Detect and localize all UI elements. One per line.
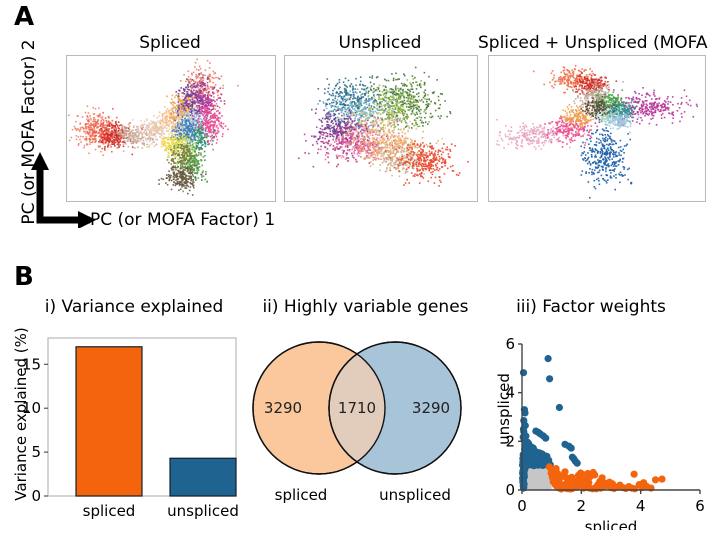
scatter-point: [556, 404, 563, 411]
scatter-point: [590, 469, 597, 476]
venn-count-unspliced-only: 3290: [412, 399, 450, 417]
mofa-embedding-title: Spliced + Unspliced (MOFA): [478, 33, 706, 53]
bar-category-label: unspliced: [167, 502, 239, 520]
y-tick-label: 6: [505, 335, 515, 353]
variance-explained-title: i) Variance explained: [18, 297, 250, 317]
scatter-point: [609, 480, 616, 487]
x-tick-label: 4: [636, 497, 646, 515]
bar-category-label: spliced: [83, 502, 136, 520]
scatter-point: [568, 445, 575, 452]
spliced-embedding-title: Spliced: [66, 33, 274, 53]
scatter-point: [549, 474, 556, 481]
x-tick-label: 0: [517, 497, 527, 515]
mofa-embedding-canvas: [489, 56, 705, 201]
venn-count-intersection: 1710: [338, 399, 376, 417]
scatter-point: [581, 480, 588, 487]
venn-canvas[interactable]: 329017103290splicedunspliced: [243, 330, 475, 530]
scatter-point: [556, 475, 563, 482]
scatter-x-axis-label: spliced: [585, 518, 638, 530]
scatter-point: [561, 468, 568, 475]
bar-spliced[interactable]: [76, 347, 142, 496]
panel-b-letter: B: [14, 264, 34, 290]
scatter-point: [568, 474, 575, 481]
scatter-point: [577, 469, 584, 476]
spliced-embedding: [66, 55, 276, 202]
scatter-point: [522, 443, 529, 450]
scatter-point: [545, 355, 552, 362]
variance-y-axis-label: Variance explained (%): [12, 324, 30, 504]
spliced-embedding-canvas: [67, 56, 275, 201]
panel-a-x-axis-label: PC (or MOFA Factor) 1: [90, 210, 275, 230]
factor-weights-chart: unspliced 02460246spliced: [478, 330, 709, 530]
unspliced-embedding: [284, 55, 478, 202]
scatter-point: [546, 375, 553, 382]
scatter-point: [519, 455, 526, 462]
scatter-point: [539, 462, 546, 469]
scatter-point: [631, 471, 638, 478]
mofa-embedding: [488, 55, 706, 202]
venn-label-unspliced: unspliced: [379, 486, 451, 504]
scatter-point: [658, 476, 665, 483]
scatter-point: [574, 460, 581, 467]
scatter-point: [519, 477, 526, 484]
scatter-point: [542, 435, 549, 442]
venn-count-spliced-only: 3290: [264, 399, 302, 417]
y-tick-label: 0: [31, 487, 41, 505]
variance-explained-canvas[interactable]: 051015splicedunspliced: [8, 330, 244, 530]
variance-explained-chart: Variance explained (%) 051015splicedunsp…: [8, 330, 244, 530]
unspliced-embedding-canvas: [285, 56, 477, 201]
bar-unspliced[interactable]: [170, 458, 236, 496]
scatter-point: [652, 476, 659, 483]
highly-variable-genes-chart: 329017103290splicedunspliced: [243, 330, 475, 530]
scatter-point: [520, 369, 527, 376]
x-tick-label: 6: [695, 497, 705, 515]
unspliced-embedding-title: Unspliced: [284, 33, 476, 53]
highly-variable-genes-title: ii) Highly variable genes: [243, 297, 488, 317]
scatter-point: [530, 462, 537, 469]
factor-weights-title: iii) Factor weights: [486, 297, 696, 317]
x-tick-label: 2: [577, 497, 587, 515]
embedding-cluster: [580, 117, 632, 199]
y-tick-label: 5: [31, 443, 41, 461]
scatter-point: [600, 483, 607, 490]
scatter-point: [520, 428, 527, 435]
y-tick-label: 0: [505, 481, 515, 499]
venn-label-spliced: spliced: [275, 486, 328, 504]
factor-weights-y-axis-label: unspliced: [495, 359, 513, 459]
